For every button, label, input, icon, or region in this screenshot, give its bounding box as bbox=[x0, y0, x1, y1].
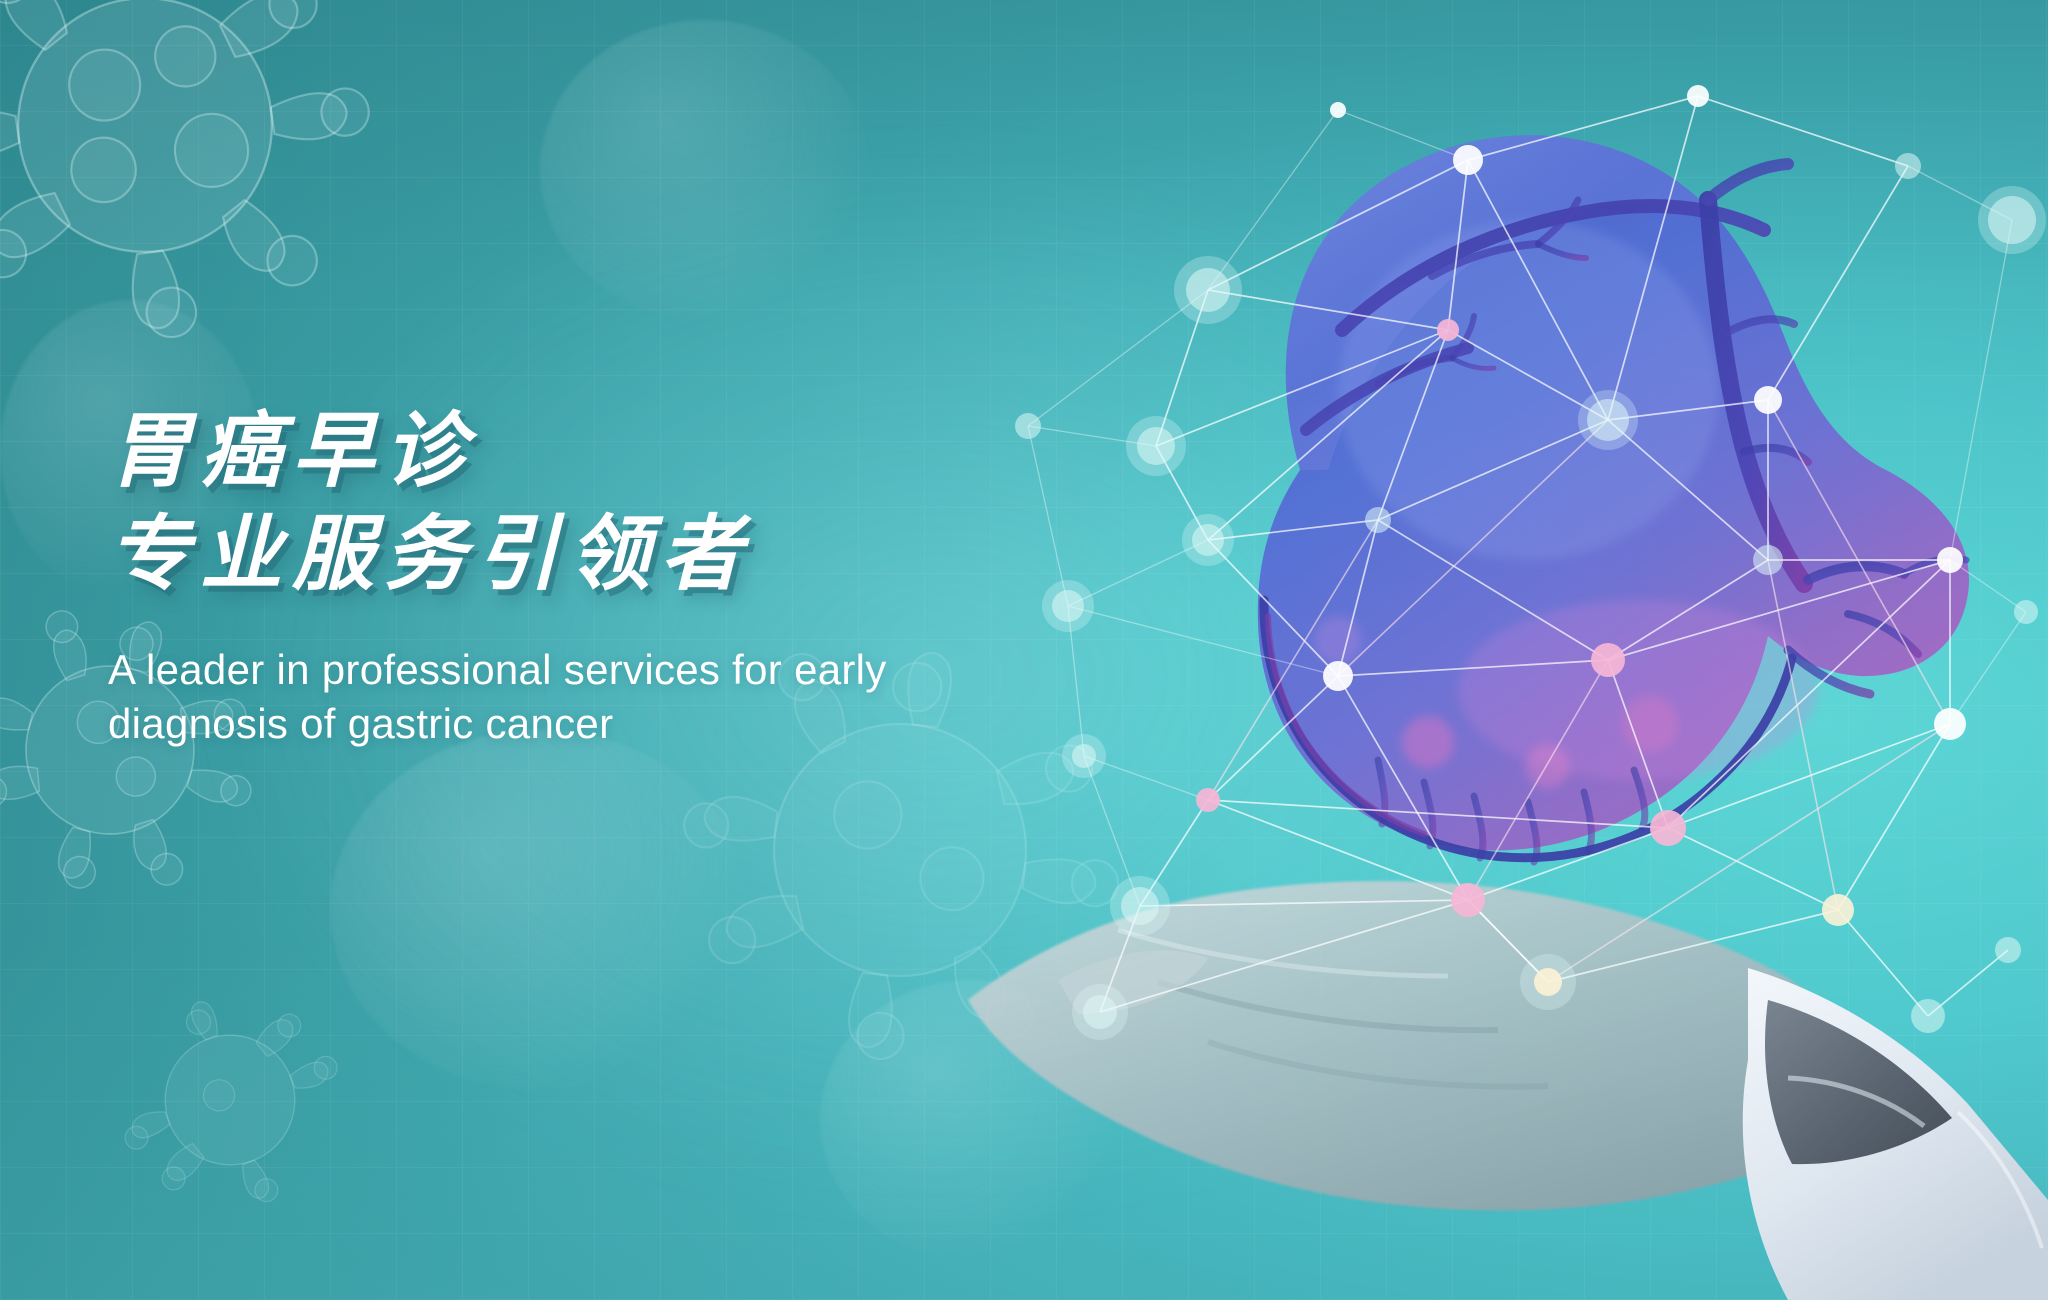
lab-coat-sleeve bbox=[1743, 968, 2048, 1300]
headline-line-2: 专业服务引领者 bbox=[108, 503, 1108, 606]
hero-banner: 胃癌早诊 专业服务引领者 A leader in professional se… bbox=[0, 0, 2048, 1300]
page-title: 胃癌早诊 专业服务引领者 bbox=[108, 400, 1108, 607]
subhead-line-1: A leader in professional services for ea… bbox=[108, 643, 928, 698]
hero-copy: 胃癌早诊 专业服务引领者 A leader in professional se… bbox=[108, 400, 1108, 752]
headline-line-1: 胃癌早诊 bbox=[108, 400, 1108, 503]
subhead-line-2: diagnosis of gastric cancer bbox=[108, 697, 928, 752]
stomach-organ bbox=[1258, 135, 1969, 862]
page-subtitle: A leader in professional services for ea… bbox=[108, 643, 928, 752]
